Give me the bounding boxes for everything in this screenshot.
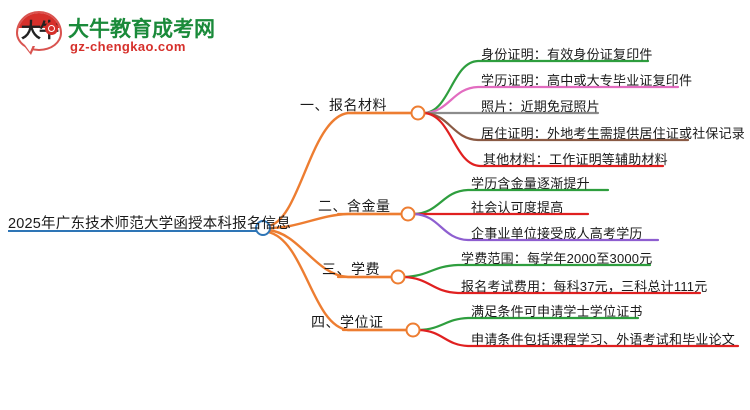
branch-node-circle-3[interactable] [392, 271, 405, 284]
root-node-label[interactable]: 2025年广东技术师范大学函授本科报名信息 [8, 212, 291, 233]
leaf-label-1-5[interactable]: 其他材料：工作证明等辅助材料 [483, 149, 668, 168]
branch-node-circle-4[interactable] [407, 324, 420, 337]
leaf-label-1-2[interactable]: 学历证明：高中或大专毕业证复印件 [481, 70, 692, 89]
leaf-label-3-1[interactable]: 学费范围：每学年2000至3000元 [461, 248, 652, 267]
leaf-label-4-1[interactable]: 满足条件可申请学士学位证书 [471, 301, 643, 320]
leaf-label-2-3[interactable]: 企事业单位接受成人高考学历 [471, 223, 643, 242]
leaf-label-2-1[interactable]: 学历含金量逐渐提升 [471, 173, 590, 192]
branch-node-circle-2[interactable] [402, 208, 415, 221]
branch-label-1[interactable]: 一、报名材料 [300, 95, 387, 115]
branch-label-4[interactable]: 四、学位证 [311, 312, 384, 332]
leaf-label-4-2[interactable]: 申请条件包括课程学习、外语考试和毕业论文 [471, 329, 735, 348]
leaf-label-1-3[interactable]: 照片：近期免冠照片 [481, 96, 600, 115]
branch-node-circle-1[interactable] [412, 107, 425, 120]
leaf-label-2-2[interactable]: 社会认可度提高 [471, 197, 563, 216]
logo-red-dot-ring-icon [48, 25, 55, 32]
branch-label-2[interactable]: 二、含金量 [318, 196, 391, 216]
leaf-label-1-4[interactable]: 居住证明：外地考生需提供居住证或社保记录 [481, 123, 745, 142]
leaf-label-1-1[interactable]: 身份证明：有效身份证复印件 [481, 44, 653, 63]
branch-label-3[interactable]: 三、学费 [322, 259, 380, 279]
leaf-label-3-2[interactable]: 报名考试费用：每科37元，三科总计111元 [461, 276, 707, 295]
